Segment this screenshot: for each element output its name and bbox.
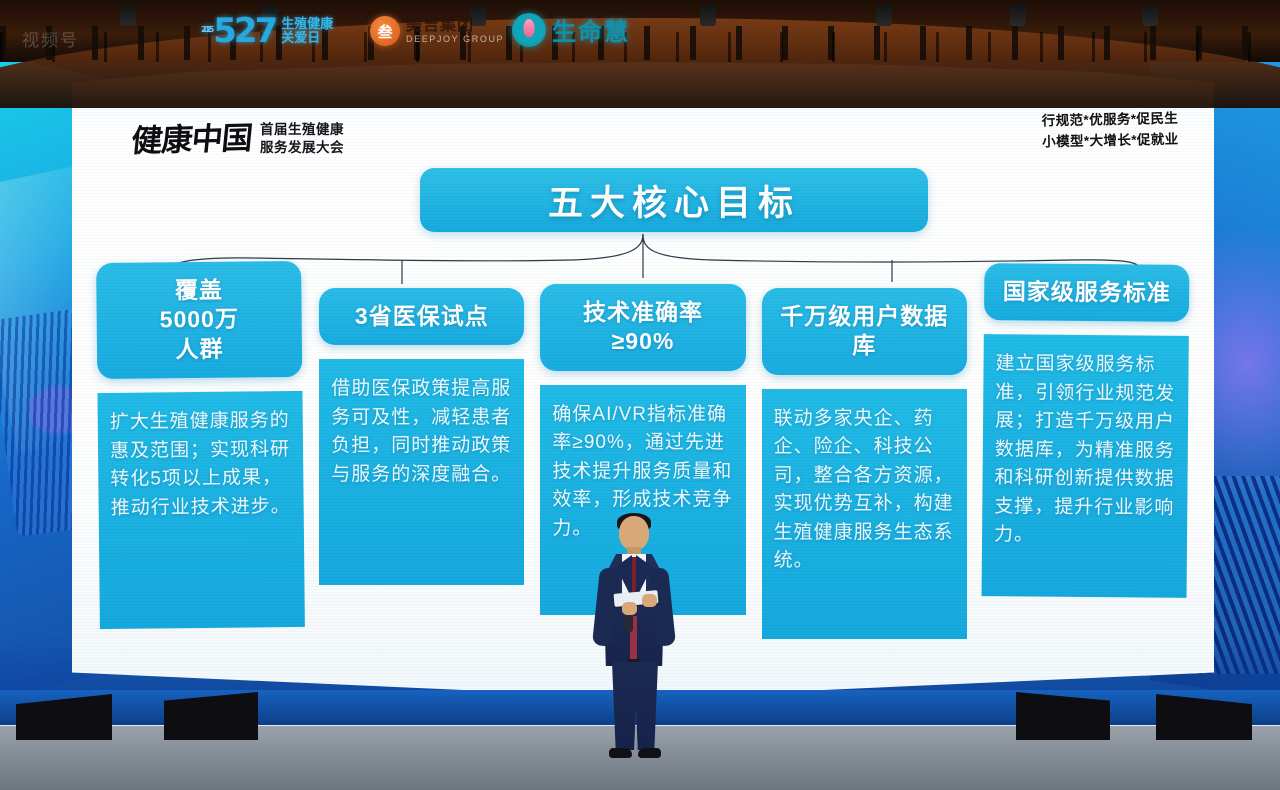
goal-heading-accuracy: 技术准确率≥90% (540, 284, 745, 371)
speaker-head (619, 516, 649, 550)
speaker-shoe-right (638, 748, 661, 758)
speaker-trousers (612, 662, 658, 750)
slide-slogan: 行规范*优服务*促民生 小模型*大增长*促就业 (1041, 109, 1178, 154)
slogan-line2: 小模型*大增长*促就业 (1042, 129, 1179, 153)
logo-527-year: 2025 (201, 25, 211, 34)
goal-body-user-database: 联动多家央企、药企、险企、科技公司，整合各方资源，实现优势互补，构建生殖健康服务… (762, 389, 967, 639)
logo-527-reproductive-health-day: 2025527 生殖健康 关爱日 (203, 14, 333, 48)
shengminghui-name: 生命慧 (552, 12, 630, 47)
shengminghui-emblem-icon (512, 13, 546, 47)
brand-subtitle-line1: 首届生殖健康 (260, 121, 344, 139)
slogan-line1: 行规范*优服务*促民生 (1041, 109, 1178, 133)
stage-scene: 健康中国 首届生殖健康 服务发展大会 行规范*优服务*促民生 小模型*大增长*促… (0, 0, 1280, 790)
speaker-person (578, 516, 690, 766)
logo-527-line2: 关爱日 (281, 31, 333, 45)
logo-527-mark: 2025527 (203, 14, 275, 48)
logo-shengminghui: 生命慧 (512, 12, 630, 47)
goal-column-user-database: 千万级用户数据库 联动多家央企、药企、险企、科技公司，整合各方资源，实现优势互补… (762, 262, 967, 639)
slide-title-banner: 五大核心目标 (420, 168, 928, 232)
speaker-hand-right (642, 594, 657, 607)
brand-subtitle-line2: 服务发展大会 (260, 139, 344, 157)
goal-heading-national-standard: 国家级服务标准 (984, 263, 1190, 322)
goal-column-coverage: 覆盖5000万人群 扩大生殖健康服务的惠及范围；实现科研转化5项以上成果，推动行… (96, 261, 305, 629)
video-watermark: 视频号 (22, 26, 79, 51)
goal-column-national-standard: 国家级服务标准 建立国家级服务标准，引领行业规范发展；打造千万级用户数据库，为精… (981, 261, 1189, 598)
backdrop-logo-row: 2025527 生殖健康 关爱日 叁 美吉集团 DEEPJOY GROUP 生命… (0, 0, 1280, 66)
goal-column-insurance-pilot: 3省医保试点 借助医保政策提高服务可及性，减轻患者负担，同时推动政策与服务的深度… (319, 262, 524, 585)
deepjoy-badge-icon: 叁 (370, 16, 400, 46)
speaker-hand-left (622, 602, 637, 615)
deepjoy-name-en: DEEPJOY GROUP (406, 35, 504, 44)
deepjoy-name-cn: 美吉集团 (406, 18, 504, 35)
brand-calligraphy: 健康中国 (130, 112, 255, 160)
goal-heading-coverage: 覆盖5000万人群 (96, 261, 302, 379)
goal-heading-user-database: 千万级用户数据库 (762, 288, 967, 375)
slide-brand: 健康中国 首届生殖健康 服务发展大会 (132, 114, 344, 159)
deepjoy-text: 美吉集团 DEEPJOY GROUP (406, 18, 504, 44)
brand-subtitle: 首届生殖健康 服务发展大会 (260, 121, 344, 159)
logo-527-text: 生殖健康 关爱日 (281, 17, 333, 44)
goal-body-national-standard: 建立国家级服务标准，引领行业规范发展；打造千万级用户数据库，为精准服务和科研创新… (981, 335, 1188, 599)
logo-527-line1: 生殖健康 (281, 17, 333, 31)
logo-deepjoy-group: 叁 美吉集团 DEEPJOY GROUP (370, 16, 504, 46)
goal-body-insurance-pilot: 借助医保政策提高服务可及性，减轻患者负担，同时推动政策与服务的深度融合。 (319, 359, 524, 585)
slide-title-text: 五大核心目标 (548, 175, 800, 226)
logo-527-number: 527 (213, 11, 275, 51)
goal-heading-insurance-pilot: 3省医保试点 (319, 288, 524, 345)
speaker-shoe-left (609, 748, 632, 758)
goal-body-coverage: 扩大生殖健康服务的惠及范围；实现科研转化5项以上成果，推动行业技术进步。 (97, 391, 305, 629)
